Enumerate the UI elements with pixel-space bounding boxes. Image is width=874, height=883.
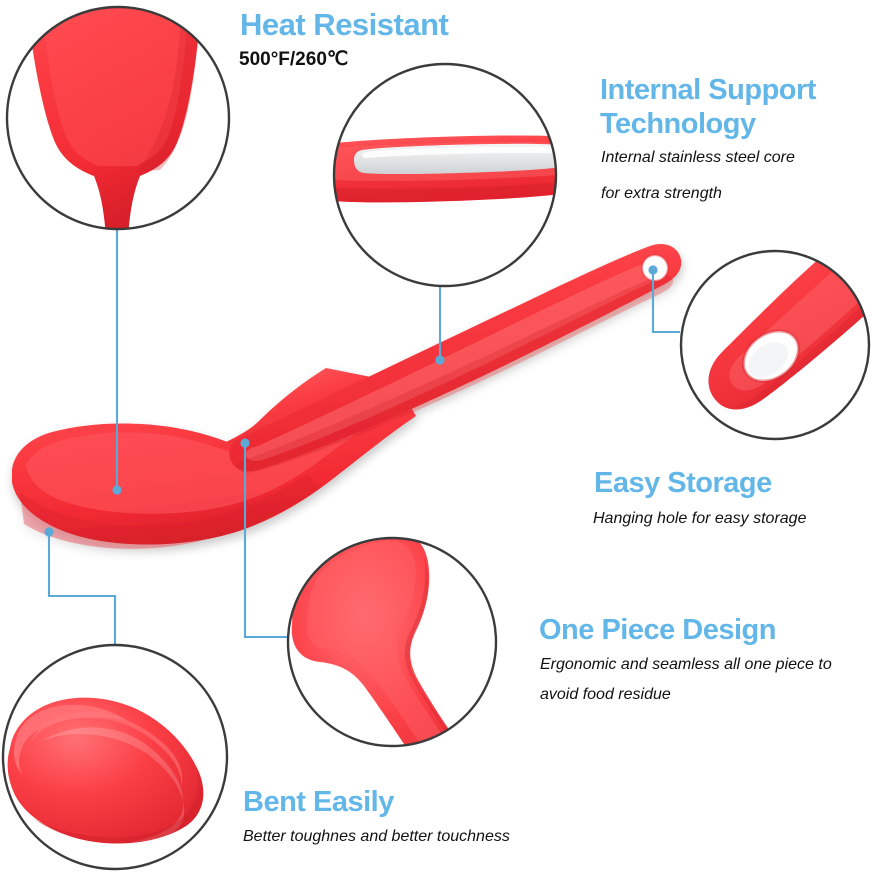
callout-circle-easy-storage <box>681 251 869 439</box>
handle-highlight <box>246 260 669 461</box>
callout-bent-easily <box>2 644 228 870</box>
callout-internal-support <box>306 61 596 289</box>
hole-closeup-shadow <box>734 228 874 408</box>
leader-dot-one-piece <box>240 438 249 447</box>
leader-line-bent-easily <box>49 532 115 644</box>
callout-circle-one-piece <box>288 538 496 746</box>
leader-line-easy-storage <box>653 283 680 332</box>
hole-closeup-highlight <box>729 243 874 390</box>
feature-title-one-piece-design: One Piece Design <box>539 615 776 646</box>
heat-closeup-head <box>27 0 200 236</box>
bent-closeup-head <box>8 698 204 844</box>
feature-subtitle-internal-support-line2: for extra strength <box>601 180 722 208</box>
leader-dot-bent-easily <box>44 527 53 536</box>
bent-closeup-shadow <box>32 766 203 844</box>
hanging-hole-inner-shadow <box>741 335 794 385</box>
callout-heat-resistant <box>4 0 232 236</box>
core-closeup-shadow <box>306 160 596 202</box>
callout-one-piece <box>287 532 500 828</box>
spatula-head <box>12 382 416 545</box>
bent-closeup-sheen <box>40 727 184 842</box>
spatula-head-fold <box>20 474 320 549</box>
leader-dot-heat-resistant <box>112 485 121 494</box>
core-closeup-handle <box>306 136 596 203</box>
callout-circle-heat-resistant <box>7 7 229 229</box>
callout-easy-storage <box>658 221 874 441</box>
one-piece-closeup-neck <box>292 532 500 828</box>
main-product-spatula <box>12 244 681 549</box>
feature-subtitle-easy-storage: Hanging hole for easy storage <box>593 505 806 533</box>
feature-title-heat-resistant: Heat Resistant <box>240 8 448 41</box>
callout-circle-internal-support <box>334 64 556 286</box>
leader-line-one-piece <box>245 443 287 637</box>
one-piece-closeup-highlight <box>307 541 480 803</box>
spatula-handle <box>229 244 681 471</box>
one-piece-closeup-shadow <box>405 556 499 823</box>
leader-dot-internal-support <box>435 355 444 364</box>
product-feature-infographic: Heat Resistant 500°F/260℃ Internal Suppo… <box>0 0 874 883</box>
feature-subtitle-one-piece-line2: avoid food residue <box>540 681 671 709</box>
feature-subtitle-bent-easily: Better toughnes and better touchness <box>243 823 510 851</box>
hole-closeup-handle-tip <box>708 221 874 410</box>
handle-shading <box>236 274 673 473</box>
feature-subtitle-one-piece-line1: Ergonomic and seamless all one piece to <box>540 651 832 679</box>
heat-closeup-shadow <box>136 0 199 172</box>
product-hanging-hole <box>642 255 668 281</box>
spatula-head-highlight <box>26 388 402 514</box>
spatula-neck <box>226 368 396 454</box>
adjacent-product-sliver <box>658 250 694 286</box>
feature-title-easy-storage: Easy Storage <box>594 468 772 499</box>
heat-closeup-highlight <box>42 0 189 166</box>
bent-closeup-highlight <box>30 712 182 800</box>
core-strip-glint <box>362 147 562 158</box>
feature-title-bent-easily: Bent Easily <box>243 787 394 818</box>
feature-title-internal-support: Internal SupportTechnology <box>600 74 816 141</box>
feature-subtitle-heat-resistant: 500°F/260℃ <box>239 43 348 76</box>
core-closeup-highlight <box>312 142 588 181</box>
callout-circle-bent-easily <box>3 645 227 869</box>
bent-closeup-upturned-lip <box>14 705 126 774</box>
leader-lines <box>49 230 680 644</box>
stainless-steel-core-strip <box>354 144 567 174</box>
leader-line-endpoints <box>44 265 657 536</box>
feature-subtitle-internal-support-line1: Internal stainless steel core <box>601 144 795 172</box>
leader-dot-easy-storage <box>648 265 657 274</box>
hanging-hole-opening <box>734 321 808 392</box>
